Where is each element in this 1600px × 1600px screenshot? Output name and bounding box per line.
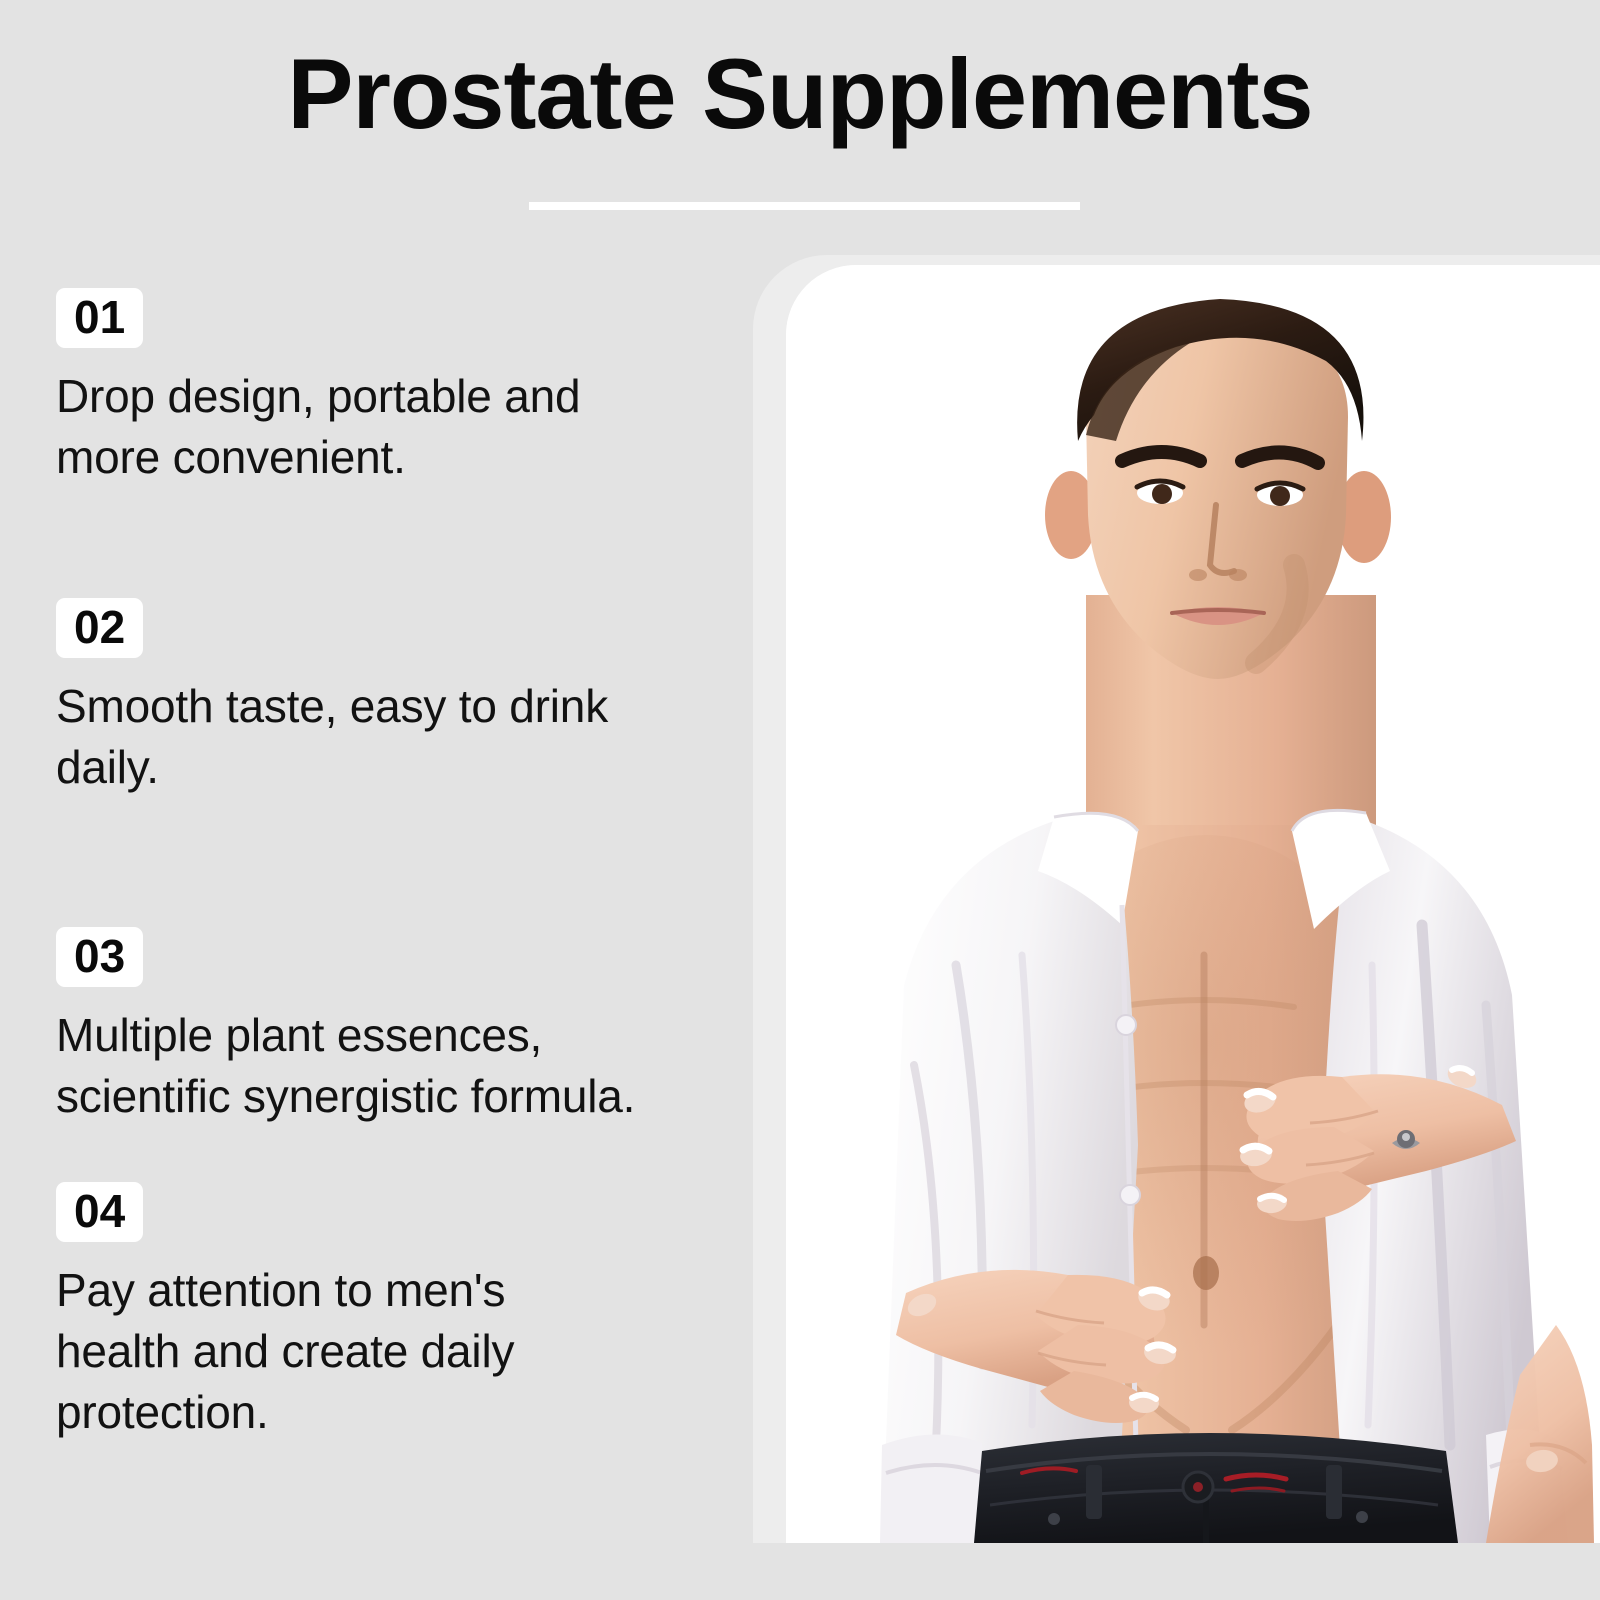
- feature-text-1: Drop design, portable and more convenien…: [56, 366, 656, 488]
- feature-number-badge-4: 04: [56, 1182, 143, 1242]
- feature-item-2: 02 Smooth taste, easy to drink daily.: [56, 598, 716, 798]
- feature-item-3: 03 Multiple plant essences, scientific s…: [56, 927, 716, 1127]
- feature-number-badge-2: 02: [56, 598, 143, 658]
- feature-list: 01 Drop design, portable and more conven…: [0, 0, 740, 1600]
- feature-text-3: Multiple plant essences, scientific syne…: [56, 1005, 696, 1127]
- infographic-canvas: Prostate Supplements: [0, 0, 1600, 1600]
- feature-number-badge-3: 03: [56, 927, 143, 987]
- feature-item-4: 04 Pay attention to men's health and cre…: [56, 1182, 716, 1444]
- feature-text-4: Pay attention to men's health and create…: [56, 1260, 616, 1444]
- model-photo: [786, 265, 1600, 1543]
- feature-number-badge-1: 01: [56, 288, 143, 348]
- feature-text-2: Smooth taste, easy to drink daily.: [56, 676, 676, 798]
- photo-panel: [786, 265, 1600, 1543]
- feature-item-1: 01 Drop design, portable and more conven…: [56, 288, 716, 488]
